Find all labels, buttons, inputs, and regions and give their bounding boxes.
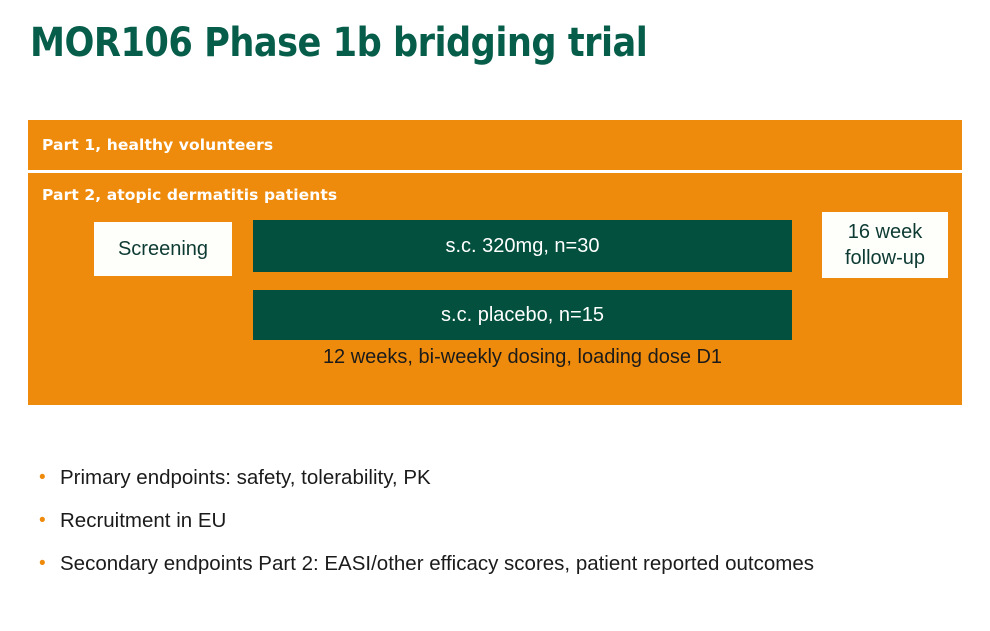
treatment-arm-bar: s.c. 320mg, n=30 [253, 220, 792, 272]
endpoints-bullet-list: • Primary endpoints: safety, tolerabilit… [34, 465, 964, 594]
list-item-label: Secondary endpoints Part 2: EASI/other e… [60, 551, 814, 577]
dosing-note: 12 weeks, bi-weekly dosing, loading dose… [253, 346, 792, 369]
bullet-dot-icon: • [34, 465, 60, 491]
list-item: • Secondary endpoints Part 2: EASI/other… [34, 551, 964, 594]
bullet-dot-icon: • [34, 551, 60, 577]
list-item-label: Primary endpoints: safety, tolerability,… [60, 465, 431, 491]
treatment-arm-label: s.c. 320mg, n=30 [446, 235, 600, 258]
part1-label: Part 1, healthy volunteers [42, 136, 273, 154]
list-item: • Recruitment in EU [34, 508, 964, 551]
list-item-label: Recruitment in EU [60, 508, 226, 534]
part1-band: Part 1, healthy volunteers [28, 120, 962, 170]
placebo-arm-label: s.c. placebo, n=15 [441, 304, 604, 327]
bullet-dot-icon: • [34, 508, 60, 534]
slide-title: MOR106 Phase 1b bridging trial [30, 18, 840, 68]
placebo-arm-bar: s.c. placebo, n=15 [253, 290, 792, 340]
part2-band: Part 2, atopic dermatitis patients [28, 173, 962, 217]
followup-label-line1: 16 week [848, 219, 923, 245]
part2-label: Part 2, atopic dermatitis patients [42, 186, 337, 204]
list-item: • Primary endpoints: safety, tolerabilit… [34, 465, 964, 508]
followup-label-line2: follow-up [845, 245, 925, 271]
followup-box: 16 week follow-up [822, 212, 948, 278]
screening-box: Screening [94, 222, 232, 276]
screening-label: Screening [118, 238, 208, 261]
trial-design-panel: Part 1, healthy volunteers Part 2, atopi… [28, 120, 962, 405]
